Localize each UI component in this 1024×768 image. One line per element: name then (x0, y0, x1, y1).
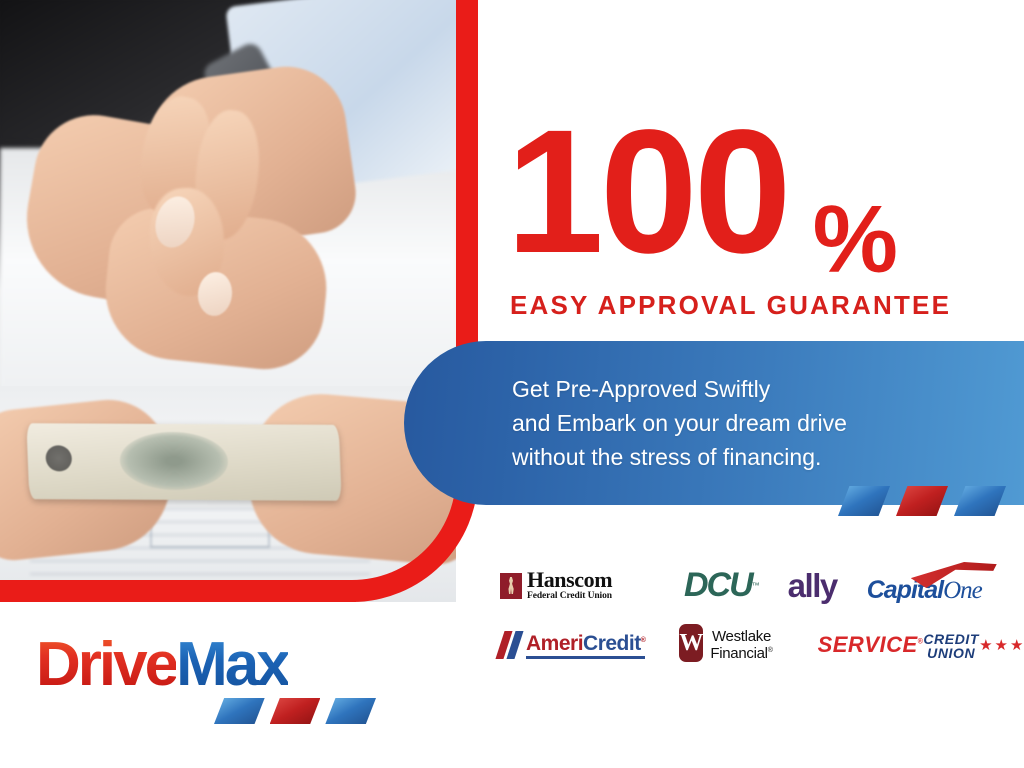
logo-dcu: DCU™ (684, 566, 758, 605)
minuteman-icon (507, 577, 516, 594)
handshake-photo (0, 0, 456, 392)
americredit-word-ameri: Ameri (526, 632, 583, 655)
promo-banner: Get Pre-Approved Swiftly and Embark on y… (404, 341, 1024, 505)
ally-name: ally (788, 567, 837, 605)
ad-canvas: 100 % EASY APPROVAL GUARANTEE Get Pre-Ap… (0, 0, 1024, 768)
bill-portrait (119, 432, 229, 491)
lender-logo-group: Hanscom Federal Credit Union DCU™ ally C… (500, 566, 1020, 696)
brand-word-max: Max (176, 630, 288, 699)
brand-chevron-icon (325, 698, 376, 724)
chevron-accent-group (838, 486, 1006, 516)
service-cu-word-service: SERVICE (818, 632, 918, 657)
dcu-trademark: ™ (752, 581, 758, 590)
chevron-icon (838, 486, 890, 516)
americredit-word-credit: Credit (583, 632, 641, 655)
brand-chevron-icon (214, 698, 265, 724)
bill-seal (45, 445, 72, 471)
americredit-trademark: ® (641, 637, 646, 644)
service-cu-subtitle: CREDIT UNION (923, 632, 979, 660)
westlake-trademark: ® (768, 647, 773, 654)
lender-logo-row-2: AmeriCredit® W Westlake Financial® SERVI… (500, 624, 1024, 665)
hanscom-subtitle: Federal Credit Union (527, 592, 612, 602)
westlake-badge-icon: W (679, 624, 703, 662)
hanscom-emblem-icon (500, 573, 522, 599)
americredit-underline (526, 656, 645, 659)
headline-percent-symbol: % (813, 192, 898, 288)
logo-americredit: AmeriCredit® (500, 631, 645, 659)
logo-westlake-financial: W Westlake Financial® (679, 624, 779, 665)
service-cu-stars-icon: ★★★★★ (979, 638, 1024, 653)
brand-chevron-icon (270, 698, 321, 724)
logo-hanscom: Hanscom Federal Credit Union (500, 569, 660, 602)
hundred-dollar-bill (26, 423, 341, 501)
logo-capital-one: CapitalOne (867, 568, 982, 603)
promo-banner-text: Get Pre-Approved Swiftly and Embark on y… (512, 372, 847, 474)
headline-block: 100 % (506, 104, 926, 294)
hanscom-name: Hanscom (527, 569, 612, 591)
brand-word-drive: Drive (36, 630, 176, 699)
chevron-icon (896, 486, 948, 516)
logo-service-credit-union: SERVICE® CREDIT UNION ★★★★★ (818, 630, 1024, 660)
chevron-icon (954, 486, 1006, 516)
dcu-name: DCU (684, 566, 752, 605)
lender-logo-row-1: Hanscom Federal Credit Union DCU™ ally C… (500, 566, 982, 605)
brand-logo-drivemax: DriveMax (36, 634, 376, 724)
westlake-name: Westlake Financial (710, 628, 771, 662)
headline-subtitle: EASY APPROVAL GUARANTEE (510, 290, 951, 321)
capital-one-word-one: One (943, 577, 982, 604)
logo-ally: ally (788, 567, 837, 605)
americredit-slash-icon (500, 631, 522, 659)
brand-chevron-group (214, 698, 376, 724)
red-frame-horizontal (0, 580, 356, 602)
